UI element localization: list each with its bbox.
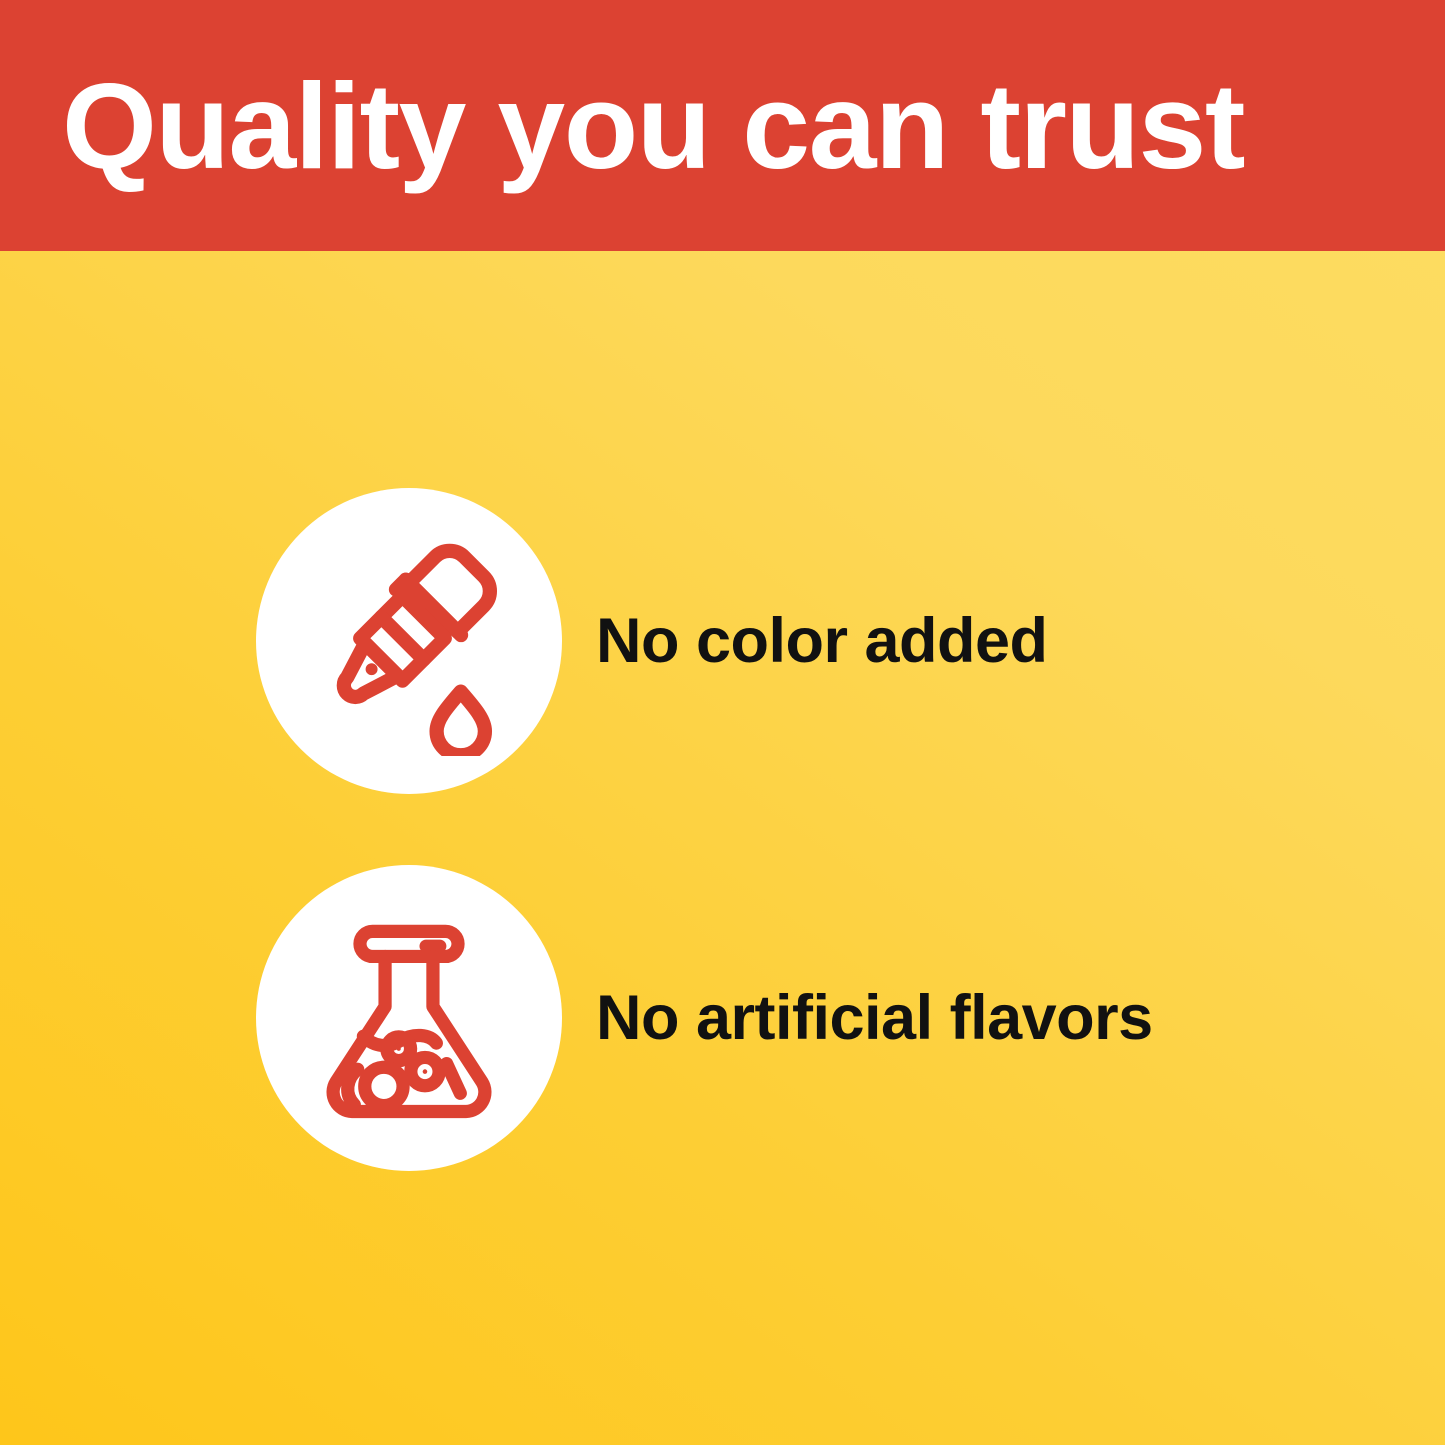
- eyedropper-icon: [294, 526, 524, 756]
- icon-badge: [256, 865, 562, 1171]
- promo-poster: Quality you can trust: [0, 0, 1445, 1445]
- header-band: Quality you can trust: [0, 0, 1445, 251]
- feature-item-no-artificial-flavors: No artificial flavors: [256, 865, 1153, 1171]
- icon-badge: [256, 488, 562, 794]
- feature-item-no-color-added: No color added: [256, 488, 1048, 794]
- page-title: Quality you can trust: [62, 65, 1244, 187]
- feature-label: No color added: [596, 610, 1048, 673]
- feature-list: No color added: [0, 251, 1445, 1445]
- feature-label: No artificial flavors: [596, 987, 1153, 1050]
- erlenmeyer-flask-icon: [295, 904, 523, 1132]
